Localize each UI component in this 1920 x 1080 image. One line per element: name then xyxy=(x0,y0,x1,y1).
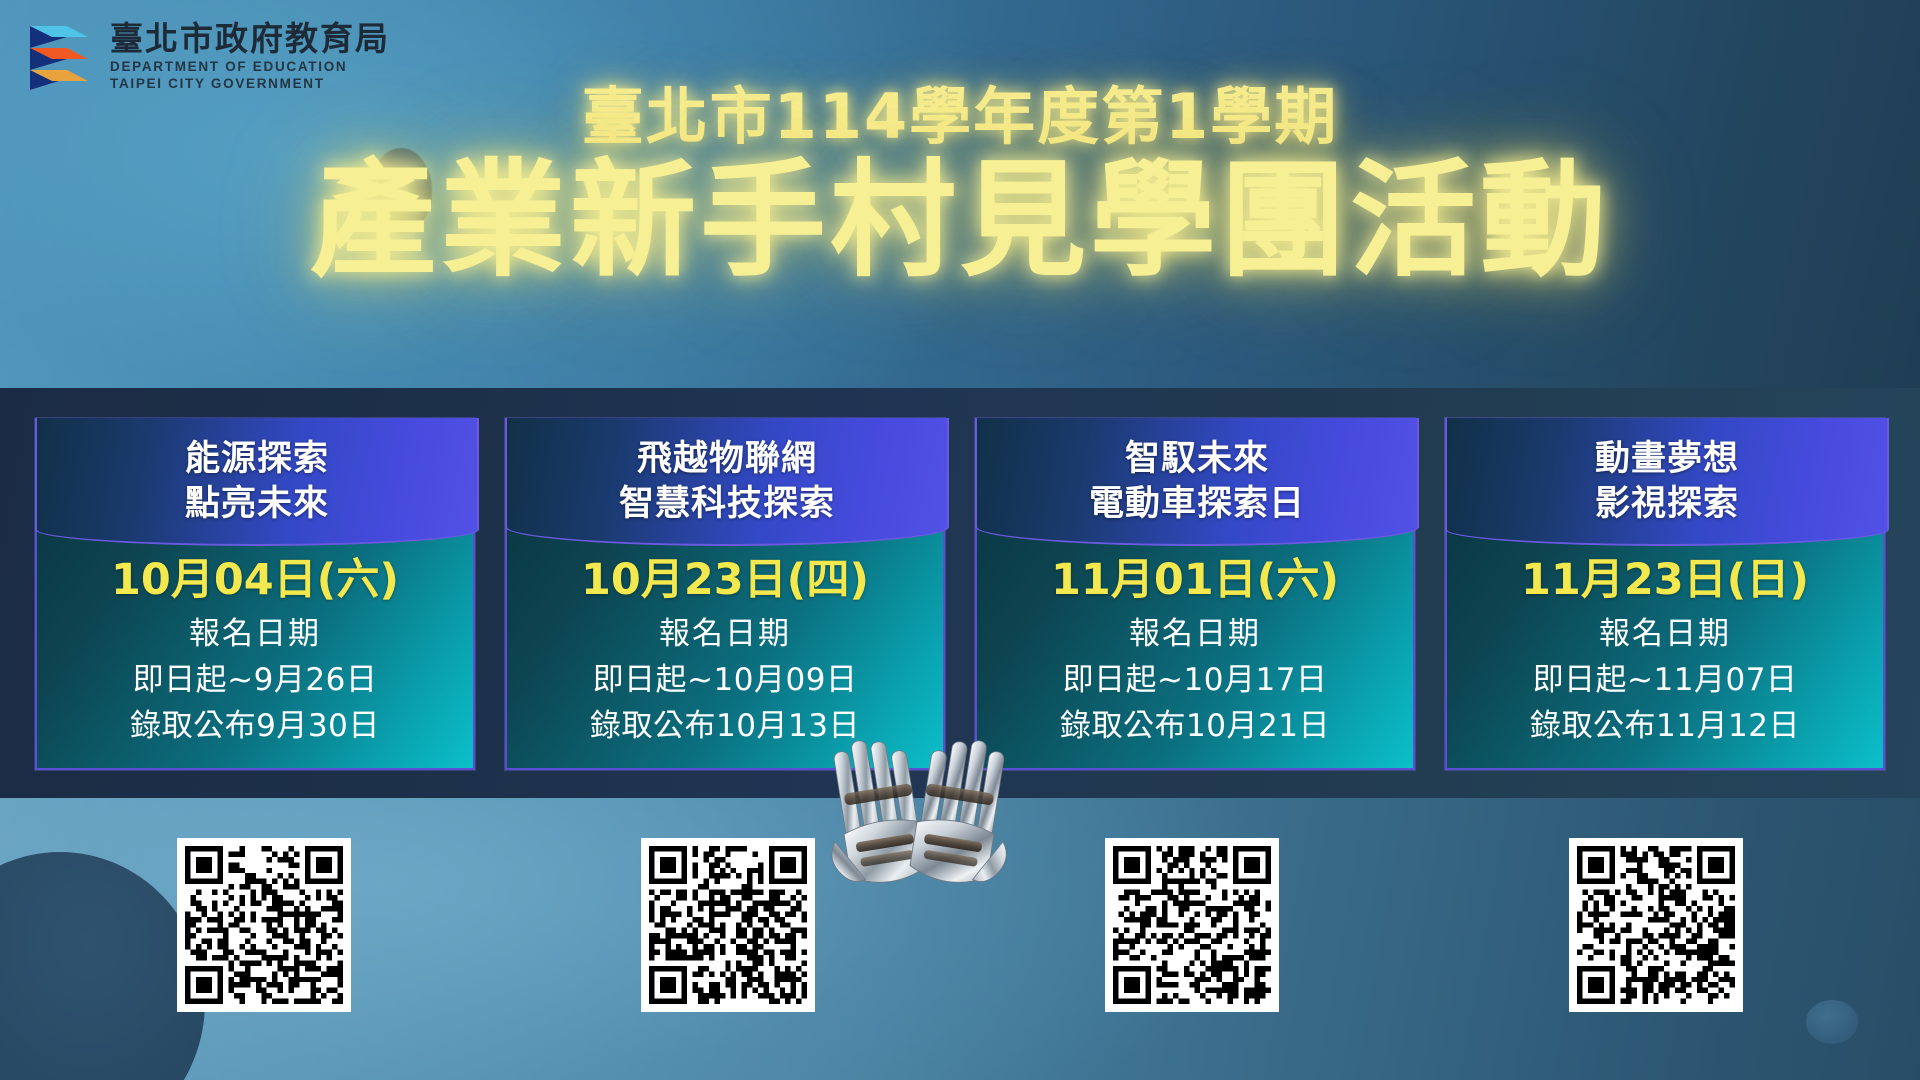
event-date: 11月23日(日) xyxy=(1521,554,1809,608)
registration-label: 報名日期 xyxy=(1599,612,1731,657)
event-title-line1: 飛越物聯網 xyxy=(637,438,817,480)
registration-period: 即日起~11月07日 xyxy=(1533,657,1798,704)
registration-label: 報名日期 xyxy=(189,612,321,657)
event-card[interactable]: 動畫夢想影視探索11月23日(日)報名日期即日起~11月07日錄取公布11月12… xyxy=(1445,418,1885,770)
event-card[interactable]: 能源探索點亮未來10月04日(六)報名日期即日起~9月26日錄取公布9月30日 xyxy=(35,418,475,770)
event-title-line2: 影視探索 xyxy=(1595,483,1739,525)
event-card[interactable]: 智馭未來電動車探索日11月01日(六)報名日期即日起~10月17日錄取公布10月… xyxy=(975,418,1415,770)
qr-code-list xyxy=(0,838,1920,1038)
event-card-header: 能源探索點亮未來 xyxy=(35,418,479,546)
registration-label: 報名日期 xyxy=(1129,612,1261,657)
event-card-header: 智馭未來電動車探索日 xyxy=(975,418,1419,546)
event-date: 11月01日(六) xyxy=(1051,554,1339,608)
event-title-line1: 能源探索 xyxy=(185,438,329,480)
registration-label: 報名日期 xyxy=(659,612,791,657)
registration-period: 即日起~9月26日 xyxy=(133,657,378,704)
result-announcement: 錄取公布10月13日 xyxy=(590,703,860,750)
event-card-list: 能源探索點亮未來10月04日(六)報名日期即日起~9月26日錄取公布9月30日飛… xyxy=(0,418,1920,776)
poster-subtitle: 臺北市114學年度第1學期 xyxy=(0,66,1920,156)
event-date: 10月23日(四) xyxy=(581,554,869,608)
event-card-body: 10月04日(六)報名日期即日起~9月26日錄取公布9月30日 xyxy=(37,548,473,750)
result-announcement: 錄取公布9月30日 xyxy=(130,703,380,750)
event-card-body: 11月01日(六)報名日期即日起~10月17日錄取公布10月21日 xyxy=(977,548,1413,750)
qr-code[interactable] xyxy=(177,838,351,1012)
event-title-line2: 點亮未來 xyxy=(185,483,329,525)
event-title-line1: 動畫夢想 xyxy=(1595,438,1739,480)
event-card[interactable]: 飛越物聯網智慧科技探索10月23日(四)報名日期即日起~10月09日錄取公布10… xyxy=(505,418,945,770)
poster-canvas: 臺北市政府教育局 DEPARTMENT OF EDUCATION TAIPEI … xyxy=(0,0,1920,1080)
logo-name-chinese: 臺北市政府教育局 xyxy=(110,22,390,55)
qr-code[interactable] xyxy=(1105,838,1279,1012)
event-title-line2: 電動車探索日 xyxy=(1089,483,1305,525)
result-announcement: 錄取公布11月12日 xyxy=(1530,703,1800,750)
qr-code-image xyxy=(1577,846,1735,1004)
qr-code-image xyxy=(649,846,807,1004)
qr-code[interactable] xyxy=(641,838,815,1012)
qr-code-image xyxy=(1113,846,1271,1004)
event-card-body: 10月23日(四)報名日期即日起~10月09日錄取公布10月13日 xyxy=(507,548,943,750)
event-card-header: 動畫夢想影視探索 xyxy=(1445,418,1889,546)
event-card-body: 11月23日(日)報名日期即日起~11月07日錄取公布11月12日 xyxy=(1447,548,1883,750)
event-card-header: 飛越物聯網智慧科技探索 xyxy=(505,418,949,546)
registration-period: 即日起~10月17日 xyxy=(1063,657,1328,704)
qr-code[interactable] xyxy=(1569,838,1743,1012)
event-date: 10月04日(六) xyxy=(111,554,399,608)
registration-period: 即日起~10月09日 xyxy=(593,657,858,704)
poster-main-title: 產業新手村見學團活動 xyxy=(0,150,1920,291)
event-title-line1: 智馭未來 xyxy=(1125,438,1269,480)
result-announcement: 錄取公布10月21日 xyxy=(1060,703,1330,750)
qr-code-image xyxy=(185,846,343,1004)
event-title-line2: 智慧科技探索 xyxy=(619,483,835,525)
